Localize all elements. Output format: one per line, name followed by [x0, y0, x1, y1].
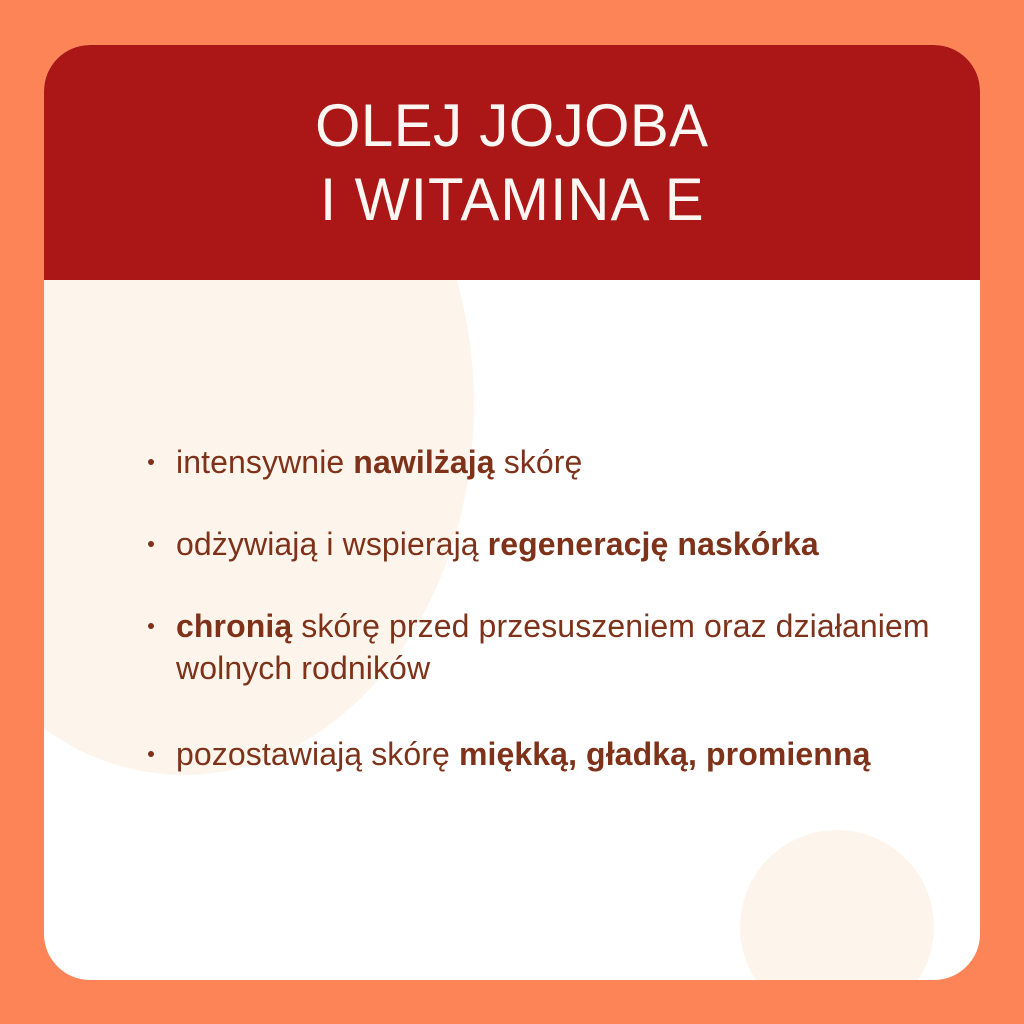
bullet-dot-icon [148, 623, 154, 629]
benefits-list: intensywnie nawilżają skórę odżywiają i … [142, 441, 952, 775]
info-card: OLEJ JOJOBA I WITAMINA E intensywnie naw… [44, 45, 980, 980]
list-item-text: intensywnie nawilżają skórę [176, 444, 582, 480]
page-title-line-1: OLEJ JOJOBA [315, 89, 708, 163]
text-segment-emphasis: nawilżają [353, 444, 494, 480]
list-item-moisturizing: intensywnie nawilżają skórę [142, 441, 952, 483]
list-item-regeneration: odżywiają i wspierają regenerację naskór… [142, 523, 952, 565]
list-item-text: odżywiają i wspierają regenerację naskór… [176, 526, 819, 562]
slide-canvas: OLEJ JOJOBA I WITAMINA E intensywnie naw… [0, 0, 1024, 1024]
text-segment-emphasis: regenerację naskórka [488, 526, 819, 562]
bullet-dot-icon [148, 459, 154, 465]
text-segment-plain: odżywiają i wspierają [176, 526, 488, 562]
card-header-banner: OLEJ JOJOBA I WITAMINA E [44, 45, 980, 280]
list-item-text: pozostawiają skórę miękką, gładką, promi… [176, 736, 870, 772]
text-segment-emphasis: chronią [176, 608, 292, 644]
list-item-protection: chronią skórę przed przesuszeniem oraz d… [142, 605, 952, 689]
text-segment-emphasis: miękką, gładką, promienną [459, 736, 871, 772]
bullet-dot-icon [148, 751, 154, 757]
list-item-softness: pozostawiają skórę miękką, gładką, promi… [142, 733, 952, 775]
text-segment-plain: pozostawiają skórę [176, 736, 459, 772]
list-item-text: chronią skórę przed przesuszeniem oraz d… [176, 608, 930, 686]
text-segment-plain: intensywnie [176, 444, 353, 480]
card-body: intensywnie nawilżają skórę odżywiają i … [44, 280, 980, 980]
bullet-dot-icon [148, 541, 154, 547]
text-segment-plain-2: skórę [495, 444, 583, 480]
page-title-line-2: I WITAMINA E [320, 163, 705, 237]
